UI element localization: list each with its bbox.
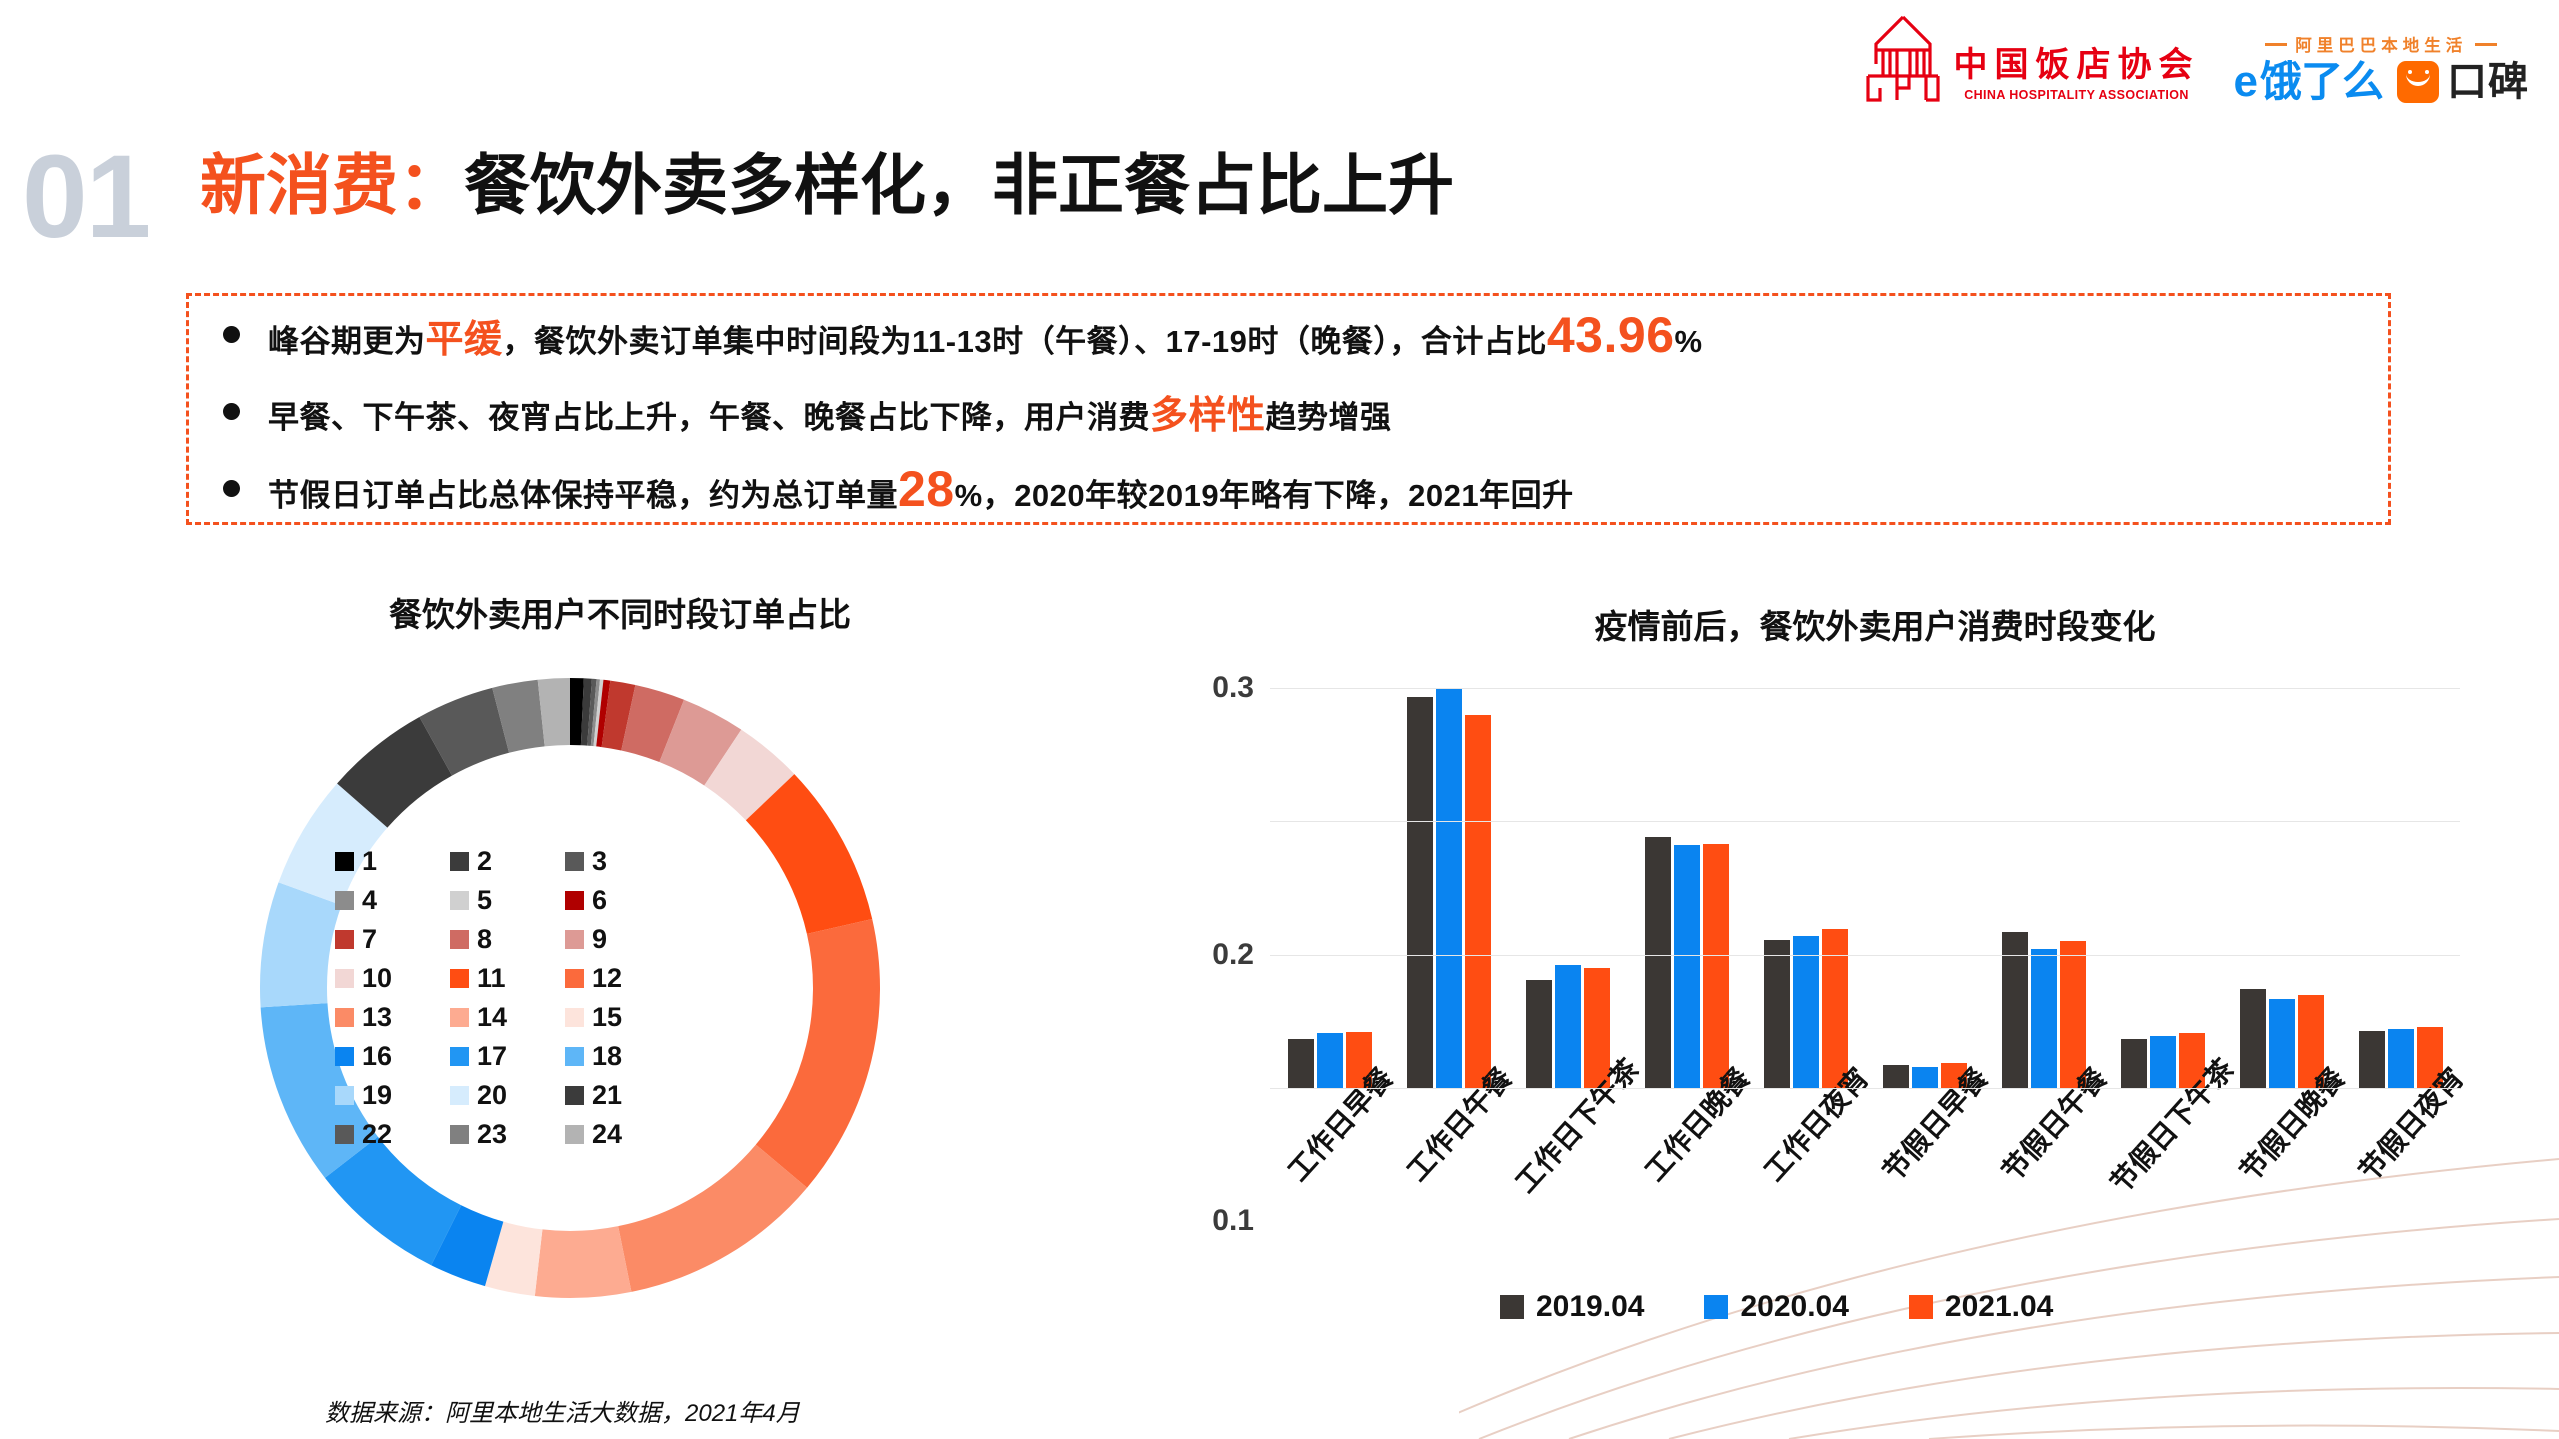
donut-slice — [618, 1145, 807, 1292]
cha-logo: 中国饭店协会 CHINA HOSPITALITY ASSOCIATION — [1864, 14, 2200, 104]
y-axis-tick: 0.1 — [1212, 1204, 1254, 1238]
bar — [1407, 697, 1433, 1088]
bar-group: 节假日早餐 — [1865, 688, 1984, 1088]
legend-item: 24 — [565, 1119, 680, 1150]
y-axis-tick: 0.3 — [1212, 671, 1254, 705]
bar — [1883, 1065, 1909, 1088]
gridline: 0.1 — [1270, 955, 2460, 956]
bullet-pre: 节假日订单占比总体保持平稳，约为总订单量 — [268, 478, 898, 513]
legend-swatch — [450, 1086, 469, 1105]
bar-group: 工作日夜宵 — [1746, 688, 1865, 1088]
legend-label: 1 — [362, 846, 377, 877]
bullet-dot-icon — [223, 326, 240, 343]
legend-swatch — [450, 930, 469, 949]
dash-left-icon — [2265, 43, 2287, 46]
legend-label: 7 — [362, 924, 377, 955]
legend-item: 2019.04 — [1500, 1290, 1644, 1324]
page-title-highlight: 新消费： — [200, 148, 464, 222]
legend-item: 12 — [565, 963, 680, 994]
legend-label: 2020.04 — [1740, 1290, 1848, 1324]
legend-item: 20 — [450, 1080, 565, 1111]
legend-swatch — [335, 969, 354, 988]
legend-item: 17 — [450, 1041, 565, 1072]
legend-label: 14 — [477, 1002, 507, 1033]
legend-item: 5 — [450, 885, 565, 916]
bar-group: 节假日午餐 — [1984, 688, 2103, 1088]
bar — [1526, 980, 1552, 1088]
bar — [2240, 989, 2266, 1088]
legend-label: 2019.04 — [1536, 1290, 1644, 1324]
bullet-mid: 趋势增强 — [1266, 400, 1392, 435]
legend-item: 2021.04 — [1909, 1290, 2053, 1324]
legend-item: 10 — [335, 963, 450, 994]
legend-item: 21 — [565, 1080, 680, 1111]
legend-swatch — [335, 1008, 354, 1027]
bar — [1436, 688, 1462, 1088]
bullet-dot-icon — [223, 403, 240, 420]
page-title: 新消费：餐饮外卖多样化，非正餐占比上升 — [200, 152, 1454, 218]
legend-label: 10 — [362, 963, 392, 994]
bar-group: 工作日早餐 — [1270, 688, 1389, 1088]
legend-label: 15 — [592, 1002, 622, 1033]
bullet-pre: 峰谷期更为 — [268, 324, 426, 359]
legend-label: 4 — [362, 885, 377, 916]
legend-label: 24 — [592, 1119, 622, 1150]
legend-label: 2 — [477, 846, 492, 877]
legend-swatch — [335, 1047, 354, 1066]
bar — [1645, 837, 1671, 1088]
bar — [2121, 1039, 2147, 1088]
legend-label: 9 — [592, 924, 607, 955]
slide-canvas: 中国饭店协会 CHINA HOSPITALITY ASSOCIATION 阿里巴… — [0, 0, 2559, 1439]
legend-label: 5 — [477, 885, 492, 916]
koubei-smile-icon — [2397, 61, 2439, 103]
legend-swatch — [565, 852, 584, 871]
bullet-text: 峰谷期更为平缓，餐饮外卖订单集中时间段为11-13时（午餐）、17-19时（晚餐… — [268, 306, 1703, 364]
bar-chart-plot: 工作日早餐工作日午餐工作日下午茶工作日晚餐工作日夜宵节假日早餐节假日午餐节假日下… — [1270, 688, 2460, 1088]
legend-swatch — [565, 930, 584, 949]
legend-swatch — [1704, 1295, 1728, 1319]
hourly-share-panel: 餐饮外卖用户不同时段订单占比 1234567891011121314151617… — [120, 588, 1120, 1428]
legend-swatch — [565, 1086, 584, 1105]
legend-label: 2021.04 — [1945, 1290, 2053, 1324]
section-number: 01 — [22, 138, 149, 256]
bar — [1912, 1067, 1938, 1088]
legend-label: 13 — [362, 1002, 392, 1033]
bar-group: 节假日夜宵 — [2341, 688, 2460, 1088]
y-axis-tick: 0.2 — [1212, 938, 1254, 972]
key-findings-box: 峰谷期更为平缓，餐饮外卖订单集中时间段为11-13时（午餐）、17-19时（晚餐… — [186, 293, 2391, 525]
bullet-text: 节假日订单占比总体保持平稳，约为总订单量28%，2020年较2019年略有下降，… — [268, 460, 1574, 518]
koubei-logo-cn: 口碑 — [2447, 62, 2529, 102]
legend-swatch — [335, 852, 354, 871]
bullet-emphasis: 平缓 — [426, 319, 503, 361]
legend-swatch — [335, 891, 354, 910]
gridline: 0.2 — [1270, 821, 2460, 822]
bullet-mid: ，餐饮外卖订单集中时间段为11-13时（午餐）、17-19时（晚餐），合计占比 — [503, 324, 1547, 359]
alibaba-local-services-logo: 阿里巴巴本地生活 e 饿了么 口碑 — [2234, 32, 2530, 104]
legend-label: 17 — [477, 1041, 507, 1072]
bar — [2388, 1029, 2414, 1088]
legend-item: 7 — [335, 924, 450, 955]
bar-group: 工作日午餐 — [1389, 688, 1508, 1088]
bullet-bignum: 43.96 — [1547, 307, 1675, 363]
gridline: 0 — [1270, 1088, 2460, 1089]
legend-label: 22 — [362, 1119, 392, 1150]
legend-item: 18 — [565, 1041, 680, 1072]
bar — [1674, 845, 1700, 1088]
legend-item: 22 — [335, 1119, 450, 1150]
bullet-post: %，2020年较2019年略有下降，2021年回升 — [955, 478, 1574, 513]
bar — [1764, 940, 1790, 1088]
legend-item: 23 — [450, 1119, 565, 1150]
bullet-text: 早餐、下午茶、夜宵占比上升，午餐、晚餐占比下降，用户消费多样性趋势增强 — [268, 384, 1392, 439]
legend-swatch — [565, 891, 584, 910]
legend-label: 16 — [362, 1041, 392, 1072]
list-item: 早餐、下午茶、夜宵占比上升，午餐、晚餐占比下降，用户消费多样性趋势增强 — [189, 373, 2388, 450]
bar — [1703, 844, 1729, 1088]
legend-swatch — [1500, 1295, 1524, 1319]
legend-swatch — [565, 1125, 584, 1144]
right-chart-title: 疫情前后，餐饮外卖用户消费时段变化 — [1140, 600, 2520, 648]
bar-group: 节假日晚餐 — [2222, 688, 2341, 1088]
cha-logo-cn: 中国饭店协会 — [1954, 48, 2200, 84]
legend-item: 19 — [335, 1080, 450, 1111]
legend-label: 11 — [477, 963, 506, 994]
legend-item: 11 — [450, 963, 565, 994]
bullet-bignum: 28 — [898, 461, 955, 517]
legend-swatch — [565, 1008, 584, 1027]
legend-item: 2020.04 — [1704, 1290, 1848, 1324]
legend-item: 1 — [335, 846, 450, 877]
legend-swatch — [335, 1086, 354, 1105]
koubei-logo: 口碑 — [2397, 61, 2529, 103]
bar — [2269, 999, 2295, 1088]
gridline: 0.3 — [1270, 688, 2460, 689]
legend-swatch — [335, 1125, 354, 1144]
bullet-dot-icon — [223, 480, 240, 497]
legend-item: 2 — [450, 846, 565, 877]
legend-item: 9 — [565, 924, 680, 955]
legend-swatch — [565, 969, 584, 988]
legend-swatch — [335, 930, 354, 949]
bar-group: 工作日晚餐 — [1627, 688, 1746, 1088]
bar-group: 节假日下午茶 — [2103, 688, 2222, 1088]
legend-item: 16 — [335, 1041, 450, 1072]
bullet-emphasis: 多样性 — [1150, 395, 1266, 437]
legend-item: 13 — [335, 1002, 450, 1033]
legend-swatch — [1909, 1295, 1933, 1319]
legend-swatch — [450, 1008, 469, 1027]
eleme-logo: e 饿了么 — [2234, 60, 2384, 104]
bar — [1465, 715, 1491, 1088]
legend-item: 3 — [565, 846, 680, 877]
donut-slice — [756, 919, 880, 1188]
bar — [2359, 1031, 2385, 1088]
legend-label: 21 — [592, 1080, 622, 1111]
legend-swatch — [565, 1047, 584, 1066]
cha-logo-en: CHINA HOSPITALITY ASSOCIATION — [1964, 88, 2189, 102]
donut-slice — [535, 1226, 632, 1298]
list-item: 峰谷期更为平缓，餐饮外卖订单集中时间段为11-13时（午餐）、17-19时（晚餐… — [189, 296, 2388, 373]
legend-item: 4 — [335, 885, 450, 916]
legend-swatch — [450, 1047, 469, 1066]
legend-label: 20 — [477, 1080, 507, 1111]
data-source-note: 数据来源：阿里本地生活大数据，2021年4月 — [325, 1393, 800, 1428]
legend-label: 12 — [592, 963, 622, 994]
dash-right-icon — [2475, 43, 2497, 46]
header-logos: 中国饭店协会 CHINA HOSPITALITY ASSOCIATION 阿里巴… — [1864, 14, 2530, 104]
donut-slice — [260, 882, 342, 1007]
legend-label: 3 — [592, 846, 607, 877]
legend-swatch — [450, 1125, 469, 1144]
legend-label: 8 — [477, 924, 492, 955]
legend-label: 23 — [477, 1119, 507, 1150]
bar — [1555, 965, 1581, 1088]
bar — [2031, 949, 2057, 1088]
legend-label: 6 — [592, 885, 607, 916]
left-chart-title: 餐饮外卖用户不同时段订单占比 — [120, 588, 1120, 636]
legend-swatch — [450, 969, 469, 988]
legend-label: 19 — [362, 1080, 392, 1111]
bar-chart-legend: 2019.042020.042021.04 — [1500, 1290, 2053, 1324]
meal-period-change-panel: 疫情前后，餐饮外卖用户消费时段变化 工作日早餐工作日午餐工作日下午茶工作日晚餐工… — [1140, 600, 2520, 1400]
legend-item: 14 — [450, 1002, 565, 1033]
eleme-logo-cn: 饿了么 — [2260, 61, 2383, 103]
bullet-post: % — [1675, 324, 1703, 359]
bar-group: 工作日下午茶 — [1508, 688, 1627, 1088]
bar — [1317, 1033, 1343, 1088]
legend-swatch — [450, 852, 469, 871]
page-title-rest: 餐饮外卖多样化，非正餐占比上升 — [464, 148, 1454, 222]
bar — [1288, 1039, 1314, 1088]
donut-legend: 123456789101112131415161718192021222324 — [335, 846, 680, 1150]
ali-tagline: 阿里巴巴本地生活 — [2295, 32, 2467, 56]
list-item: 节假日订单占比总体保持平稳，约为总订单量28%，2020年较2019年略有下降，… — [189, 450, 2388, 527]
bullet-pre: 早餐、下午茶、夜宵占比上升，午餐、晚餐占比下降，用户消费 — [268, 400, 1150, 435]
eleme-e-icon: e — [2234, 60, 2258, 104]
cha-building-icon — [1864, 14, 1942, 104]
legend-item: 6 — [565, 885, 680, 916]
legend-label: 18 — [592, 1041, 622, 1072]
legend-swatch — [450, 891, 469, 910]
legend-item: 8 — [450, 924, 565, 955]
bar — [2150, 1036, 2176, 1088]
legend-item: 15 — [565, 1002, 680, 1033]
bar — [1793, 936, 1819, 1088]
